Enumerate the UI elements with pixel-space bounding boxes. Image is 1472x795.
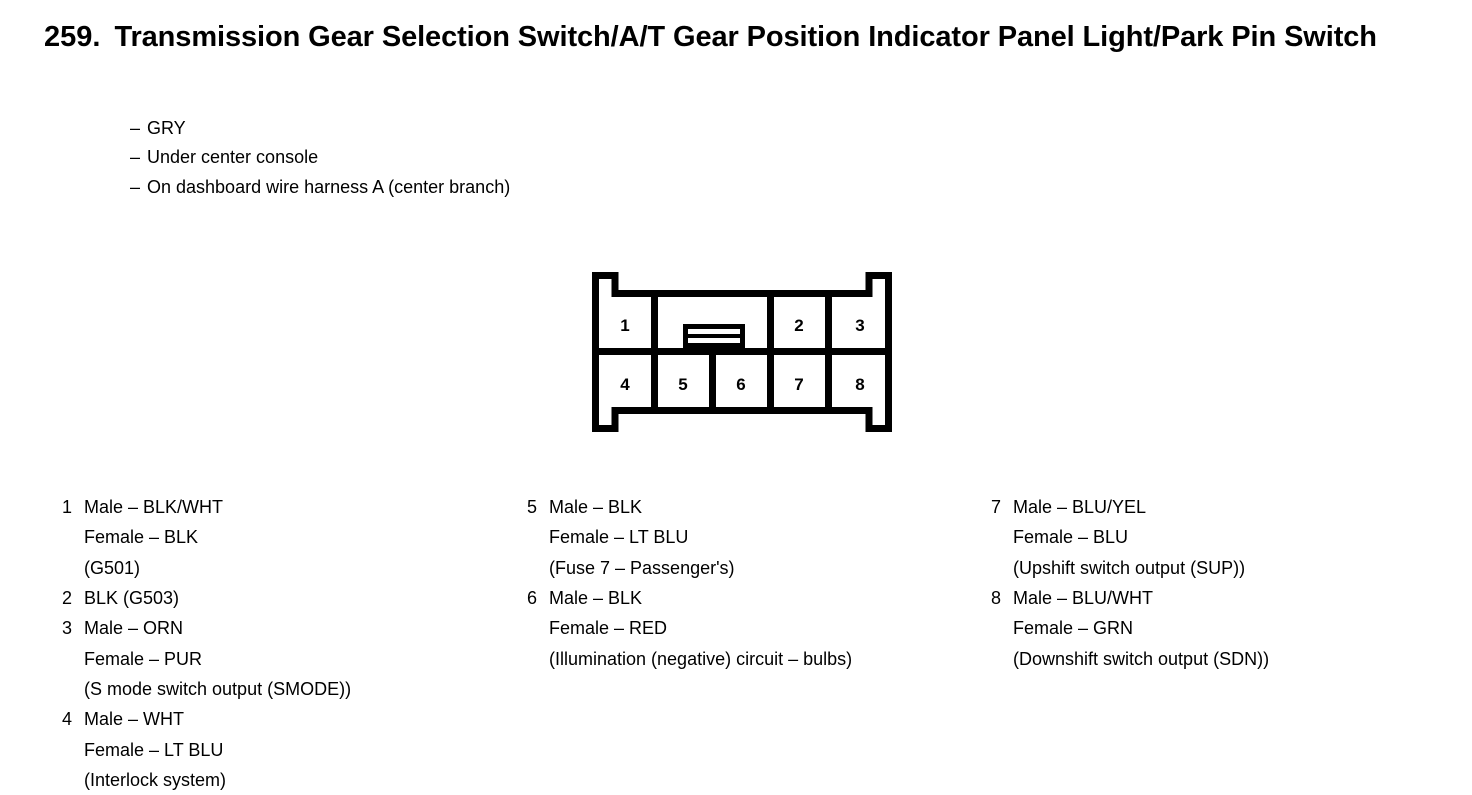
dash-icon: – (130, 114, 147, 143)
pin-detail-line: Female – BLU (1013, 527, 1128, 547)
pin-detail-line: Female – LT BLU (549, 527, 688, 547)
note-text: Under center console (147, 143, 318, 172)
pin-detail-line: Female – LT BLU (84, 740, 223, 760)
pin-detail: Male – ORN Female – PUR (S mode switch o… (84, 613, 351, 704)
dash-icon: – (130, 173, 147, 202)
pin-detail-line: (Fuse 7 – Passenger's) (549, 558, 735, 578)
pin-detail-line: Female – BLK (84, 527, 198, 547)
pin-label-3: 3 (855, 316, 864, 335)
pin-number: 4 (62, 704, 84, 734)
pin-number: 8 (991, 583, 1013, 613)
pin-detail: Male – BLK/WHT Female – BLK (G501) (84, 492, 223, 583)
dash-icon: – (130, 143, 147, 172)
pin-detail-line: (Upshift switch output (SUP)) (1013, 558, 1245, 578)
pin-label-5: 5 (678, 375, 687, 394)
list-item: 7 Male – BLU/YEL Female – BLU (Upshift s… (991, 492, 1269, 583)
pin-description-columns: 1 Male – BLK/WHT Female – BLK (G501) 2 B… (0, 492, 1472, 776)
page-title: Transmission Gear Selection Switch/A/T G… (114, 18, 1376, 56)
list-item: 8 Male – BLU/WHT Female – GRN (Downshift… (991, 583, 1269, 674)
page-heading: 259. Transmission Gear Selection Switch/… (44, 18, 1444, 56)
list-item: 3 Male – ORN Female – PUR (S mode switch… (62, 613, 351, 704)
heading-number: 259. (44, 18, 114, 56)
pin-column-left: 1 Male – BLK/WHT Female – BLK (G501) 2 B… (62, 492, 351, 795)
note-text: On dashboard wire harness A (center bran… (147, 173, 510, 202)
pin-label-8: 8 (855, 375, 864, 394)
pin-number: 6 (527, 583, 549, 613)
pin-detail-line: Male – WHT (84, 709, 184, 729)
pin-label-1: 1 (620, 316, 629, 335)
list-item: 5 Male – BLK Female – LT BLU (Fuse 7 – P… (527, 492, 852, 583)
pin-label-2: 2 (794, 316, 803, 335)
pin-detail-line: (Downshift switch output (SDN)) (1013, 649, 1269, 669)
pin-detail: Male – BLK Female – RED (Illumination (n… (549, 583, 852, 674)
list-item: – On dashboard wire harness A (center br… (130, 173, 510, 202)
pin-detail-line: Male – BLK (549, 588, 642, 608)
pin-label-7: 7 (794, 375, 803, 394)
pin-detail-line: Female – PUR (84, 649, 202, 669)
pin-label-6: 6 (736, 375, 745, 394)
pin-detail-line: (S mode switch output (SMODE)) (84, 679, 351, 699)
pin-number: 2 (62, 583, 84, 613)
connector-diagram: 1 2 3 4 5 6 7 8 (586, 266, 898, 438)
pin-detail-line: BLK (G503) (84, 588, 179, 608)
pin-detail-line: Male – BLK (549, 497, 642, 517)
pin-column-center: 5 Male – BLK Female – LT BLU (Fuse 7 – P… (527, 492, 852, 674)
connector-notes-list: – GRY – Under center console – On dashbo… (130, 114, 510, 202)
pin-detail-line: Male – ORN (84, 618, 183, 638)
pin-number: 7 (991, 492, 1013, 522)
pin-number: 1 (62, 492, 84, 522)
note-text: GRY (147, 114, 186, 143)
pin-detail: Male – BLK Female – LT BLU (Fuse 7 – Pas… (549, 492, 735, 583)
pin-detail-line: (Interlock system) (84, 770, 226, 790)
pin-detail-line: (G501) (84, 558, 140, 578)
pin-detail-line: Female – GRN (1013, 618, 1133, 638)
pin-detail-line: (Illumination (negative) circuit – bulbs… (549, 649, 852, 669)
pin-detail: Male – BLU/WHT Female – GRN (Downshift s… (1013, 583, 1269, 674)
pin-column-right: 7 Male – BLU/YEL Female – BLU (Upshift s… (991, 492, 1269, 674)
list-item: 2 BLK (G503) (62, 583, 351, 613)
list-item: 6 Male – BLK Female – RED (Illumination … (527, 583, 852, 674)
pin-label-4: 4 (620, 375, 630, 394)
pin-detail: Male – WHT Female – LT BLU (Interlock sy… (84, 704, 226, 795)
pin-number: 3 (62, 613, 84, 643)
pin-detail-line: Female – RED (549, 618, 667, 638)
pin-detail-line: Male – BLU/YEL (1013, 497, 1146, 517)
list-item: – GRY (130, 114, 510, 143)
list-item: – Under center console (130, 143, 510, 172)
pin-number: 5 (527, 492, 549, 522)
center-latch-tab (683, 324, 745, 348)
pin-detail: Male – BLU/YEL Female – BLU (Upshift swi… (1013, 492, 1245, 583)
pin-detail-line: Male – BLU/WHT (1013, 588, 1153, 608)
pin-detail: BLK (G503) (84, 583, 179, 613)
connector-svg: 1 2 3 4 5 6 7 8 (586, 266, 898, 438)
list-item: 4 Male – WHT Female – LT BLU (Interlock … (62, 704, 351, 795)
list-item: 1 Male – BLK/WHT Female – BLK (G501) (62, 492, 351, 583)
pin-detail-line: Male – BLK/WHT (84, 497, 223, 517)
